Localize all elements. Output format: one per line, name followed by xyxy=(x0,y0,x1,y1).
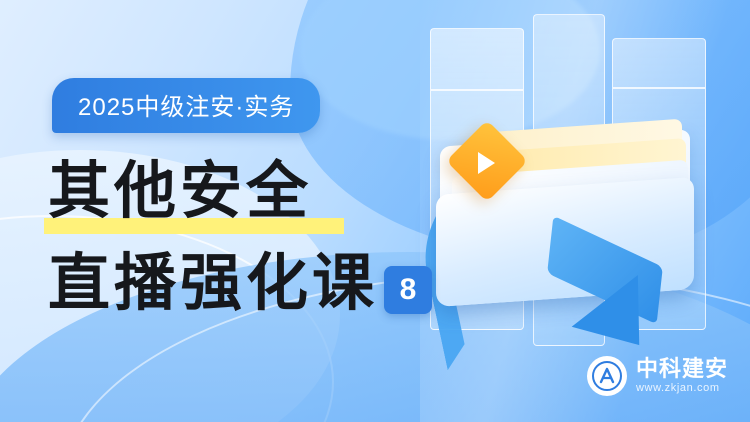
panel-divider xyxy=(613,87,705,89)
brand-logo: 中科建安 www.zkjan.com xyxy=(587,356,728,396)
logo-website-url: www.zkjan.com xyxy=(636,382,728,395)
play-triangle-icon xyxy=(478,152,495,174)
logo-brand-name: 中科建安 xyxy=(636,357,728,382)
logo-mark-icon xyxy=(587,356,627,396)
course-title-line-2: 直播强化课 xyxy=(48,252,378,314)
panel-divider xyxy=(431,89,523,91)
course-title-line-1: 其他安全 xyxy=(48,160,312,222)
logo-text-block: 中科建安 www.zkjan.com xyxy=(636,357,728,395)
course-category-pill: 2025中级注安·实务 xyxy=(52,78,320,133)
folder-illustration xyxy=(430,120,720,320)
episode-number-badge: 8 xyxy=(384,266,432,314)
course-banner: 2025中级注安·实务 其他安全 直播强化课 8 中科建安 www.zkjan.… xyxy=(0,0,750,422)
